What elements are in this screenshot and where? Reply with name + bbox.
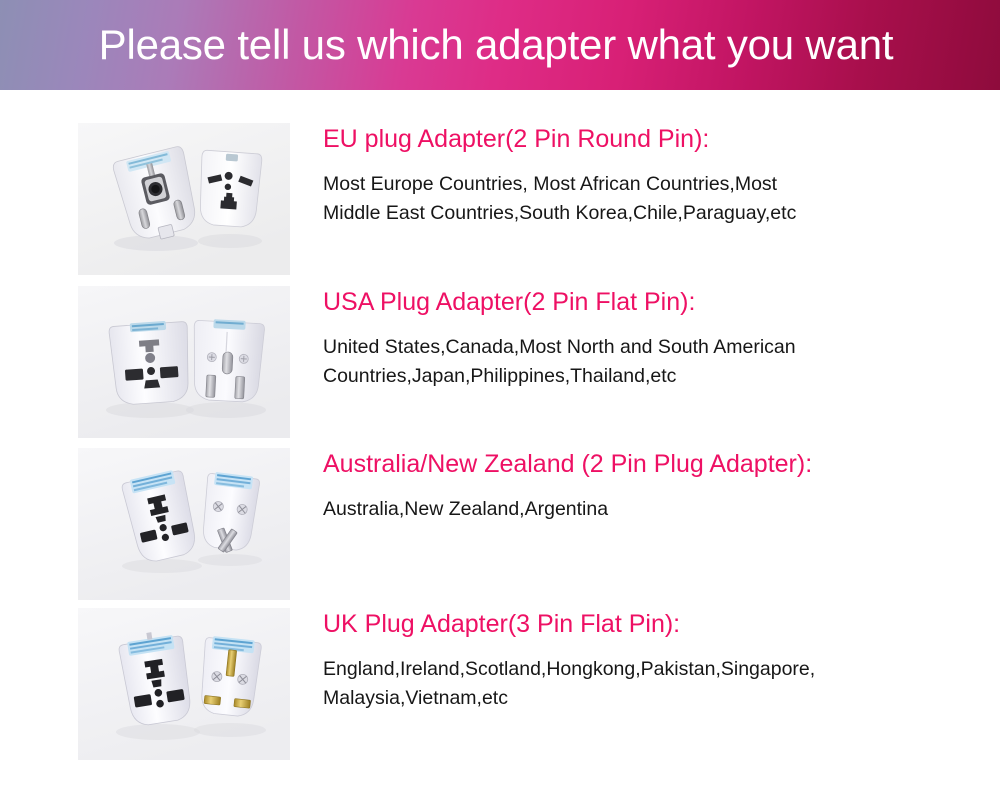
description-line: United States,Canada,Most North and Sout…: [323, 333, 923, 363]
eu-adapter-text: EU plug Adapter(2 Pin Round Pin): Most E…: [323, 123, 1000, 229]
usa-adapter-text: USA Plug Adapter(2 Pin Flat Pin): United…: [323, 286, 1000, 392]
description-line: Countries,Japan,Philippines,Thailand,etc: [323, 362, 923, 392]
au-adapter-text: Australia/New Zealand (2 Pin Plug Adapte…: [323, 448, 1000, 524]
adapter-list: EU plug Adapter(2 Pin Round Pin): Most E…: [0, 90, 1000, 800]
adapter-row-eu: EU plug Adapter(2 Pin Round Pin): Most E…: [0, 123, 1000, 275]
description-line: Malaysia,Vietnam,etc: [323, 684, 923, 714]
description-line: Most Europe Countries, Most African Coun…: [323, 170, 923, 200]
page-title: Please tell us which adapter what you wa…: [0, 24, 1000, 66]
adapter-description-eu: Most Europe Countries, Most African Coun…: [323, 170, 923, 229]
eu-plug-adapter-photo: [78, 123, 290, 275]
australia-new-zealand-plug-adapter-photo: [78, 448, 290, 600]
adapter-row-uk: UK Plug Adapter(3 Pin Flat Pin): England…: [0, 608, 1000, 760]
usa-plug-adapter-photo: [78, 286, 290, 438]
adapter-description-uk: England,Ireland,Scotland,Hongkong,Pakist…: [323, 655, 923, 714]
adapter-row-au: Australia/New Zealand (2 Pin Plug Adapte…: [0, 448, 1000, 600]
adapter-title-usa: USA Plug Adapter(2 Pin Flat Pin):: [323, 288, 1000, 317]
description-line: Middle East Countries,South Korea,Chile,…: [323, 199, 923, 229]
uk-adapter-text: UK Plug Adapter(3 Pin Flat Pin): England…: [323, 608, 1000, 714]
adapter-description-usa: United States,Canada,Most North and Sout…: [323, 333, 923, 392]
adapter-title-uk: UK Plug Adapter(3 Pin Flat Pin):: [323, 610, 1000, 639]
uk-plug-adapter-photo: [78, 608, 290, 760]
page-banner: Please tell us which adapter what you wa…: [0, 0, 1000, 90]
description-line: Australia,New Zealand,Argentina: [323, 495, 923, 525]
adapter-description-au: Australia,New Zealand,Argentina: [323, 495, 923, 525]
adapter-row-usa: USA Plug Adapter(2 Pin Flat Pin): United…: [0, 286, 1000, 438]
adapter-title-au: Australia/New Zealand (2 Pin Plug Adapte…: [323, 450, 1000, 479]
adapter-title-eu: EU plug Adapter(2 Pin Round Pin):: [323, 125, 1000, 154]
description-line: England,Ireland,Scotland,Hongkong,Pakist…: [323, 655, 923, 685]
